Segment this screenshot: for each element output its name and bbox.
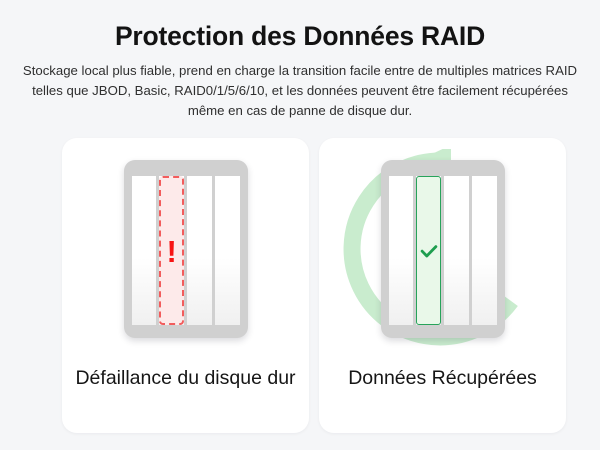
disk-bay-4 (215, 176, 240, 325)
card-caption-disk-failure: Défaillance du disque dur (75, 366, 295, 392)
page-subtitle: Stockage local plus fiable, prend en cha… (14, 61, 586, 121)
card-caption-wrap: Défaillance du disque dur (62, 360, 309, 433)
card-disk-failure: ! Défaillance du disque dur (62, 138, 309, 433)
header: Protection des Données RAID Stockage loc… (0, 0, 600, 121)
failed-bay-highlight: ! (159, 176, 184, 325)
card-caption-data-recovered: Données Récupérées (348, 366, 537, 392)
disk-bay-1 (132, 176, 157, 325)
check-icon (418, 240, 440, 262)
disk-enclosure (381, 160, 505, 338)
data-recovered-illustration (319, 138, 566, 360)
card-data-recovered: Données Récupérées (319, 138, 566, 433)
recovered-bay-highlight (416, 176, 441, 325)
page-title: Protection des Données RAID (14, 22, 586, 52)
disk-bay-1 (389, 176, 414, 325)
card-caption-wrap: Données Récupérées (319, 360, 566, 433)
disk-bay-2 (416, 176, 441, 325)
disk-bay-3 (187, 176, 212, 325)
disk-bays (389, 176, 497, 325)
disk-bays: ! (132, 176, 240, 325)
disk-enclosure: ! (124, 160, 248, 338)
disk-bay-4 (472, 176, 497, 325)
disk-bay-3 (444, 176, 469, 325)
exclamation-icon: ! (166, 236, 176, 267)
disk-bay-2: ! (159, 176, 184, 325)
raid-data-protection-panel: Protection des Données RAID Stockage loc… (0, 0, 600, 450)
cards-row: ! Défaillance du disque dur (62, 138, 566, 433)
disk-failure-illustration: ! (62, 138, 309, 360)
